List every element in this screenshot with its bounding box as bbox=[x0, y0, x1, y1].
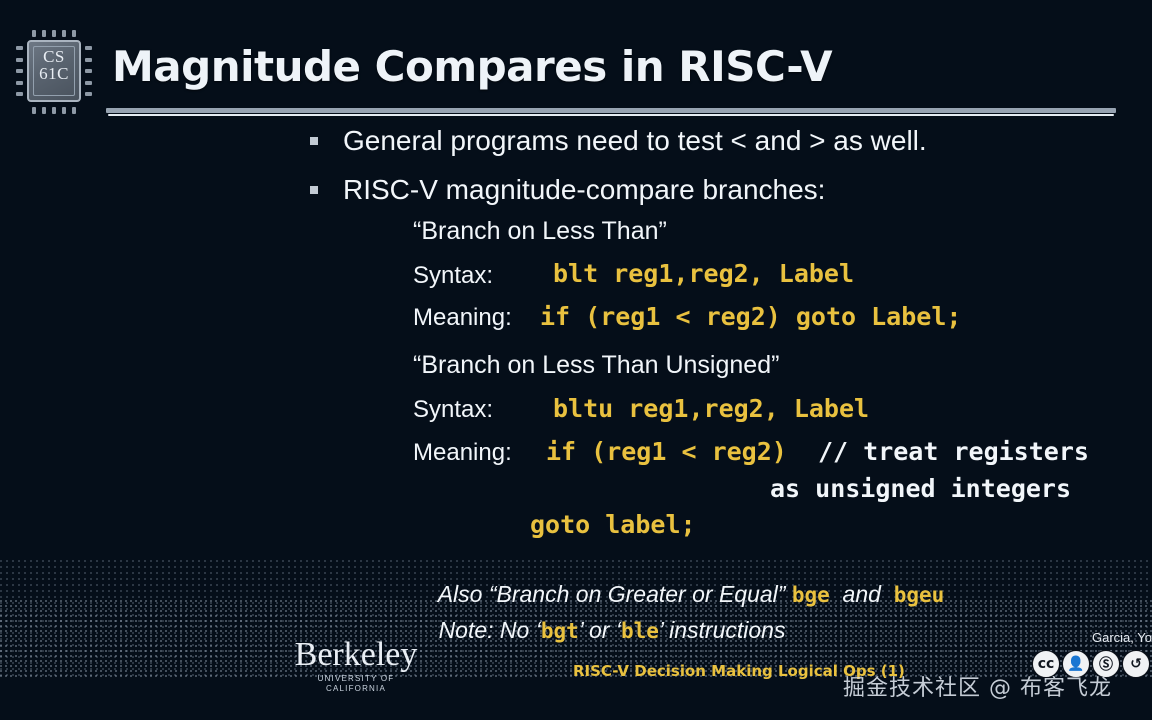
note-code-ble: ble bbox=[621, 619, 659, 643]
page-title: Magnitude Compares in RISC-V bbox=[112, 43, 832, 91]
note-prefix: Note: No ‘ bbox=[439, 617, 541, 643]
block-2-meaning-comment-line1: // treat registers bbox=[818, 437, 1089, 466]
note-suffix: ’ instructions bbox=[659, 617, 786, 643]
block-2-syntax-label: Syntax: bbox=[413, 395, 493, 425]
note-middle: ’ or ‘ bbox=[579, 617, 621, 643]
chip-label-line1: CS bbox=[29, 48, 79, 65]
block-2-meaning-label: Meaning: bbox=[413, 438, 512, 468]
slide-canvas: CS 61C Magnitude Compares in RISC-V Gene… bbox=[0, 0, 1152, 720]
note-no-bgt-ble-line: Note: No ‘bgt’ or ‘ble’ instructions bbox=[413, 588, 785, 673]
bullet-item-2-label: RISC-V magnitude-compare branches: bbox=[343, 173, 825, 207]
berkeley-subtitle: UNIVERSITY OF CALIFORNIA bbox=[286, 674, 426, 694]
block-1-syntax-label: Syntax: bbox=[413, 261, 493, 291]
cc-sa-icon: ↺ bbox=[1122, 650, 1150, 678]
chip-label: CS 61C bbox=[29, 48, 79, 82]
bullet-item-2: RISC-V magnitude-compare branches: bbox=[310, 173, 825, 207]
chip-pins-left bbox=[16, 46, 23, 96]
berkeley-wordmark: Berkeley bbox=[286, 638, 426, 672]
bullet-item-1: General programs need to test < and > as… bbox=[310, 124, 927, 158]
chip-pins-top bbox=[32, 30, 76, 37]
block-2-meaning-goto: goto label; bbox=[530, 510, 696, 539]
block-2-meaning-code: if (reg1 < reg2) bbox=[546, 437, 787, 466]
watermark-text: 掘金技术社区 @ 布客飞龙 bbox=[843, 670, 1112, 702]
berkeley-logo: Berkeley UNIVERSITY OF CALIFORNIA bbox=[286, 638, 426, 694]
note-code-bgt: bgt bbox=[541, 619, 579, 643]
block-2-meaning-comment-line2: as unsigned integers bbox=[770, 474, 1071, 503]
note-also-middle: and bbox=[830, 581, 894, 607]
chip-body: CS 61C bbox=[27, 40, 81, 102]
block-1-meaning-code: if (reg1 < reg2) goto Label; bbox=[540, 302, 961, 331]
block-2-heading: “Branch on Less Than Unsigned” bbox=[413, 350, 779, 380]
chip-pins-bottom bbox=[32, 107, 76, 114]
divider-bar-thin bbox=[108, 114, 1114, 116]
block-2-syntax-code: bltu reg1,reg2, Label bbox=[553, 394, 869, 423]
block-1-meaning-label: Meaning: bbox=[413, 303, 512, 333]
block-1-heading: “Branch on Less Than” bbox=[413, 216, 667, 246]
chip-label-line2: 61C bbox=[29, 65, 79, 82]
cs61c-chip-logo: CS 61C bbox=[14, 28, 94, 116]
bullet-item-1-label: General programs need to test < and > as… bbox=[343, 124, 927, 158]
title-divider bbox=[106, 108, 1116, 117]
note-also-code-bgeu: bgeu bbox=[894, 583, 945, 607]
block-1-syntax-code: blt reg1,reg2, Label bbox=[553, 259, 854, 288]
chip-pins-right bbox=[85, 46, 92, 96]
footer-author: Garcia, Yo bbox=[1092, 630, 1152, 645]
divider-bar-thick bbox=[106, 108, 1116, 113]
note-also-code-bge: bge bbox=[792, 583, 830, 607]
bullet-square-icon bbox=[310, 186, 318, 194]
bullet-square-icon bbox=[310, 137, 318, 145]
